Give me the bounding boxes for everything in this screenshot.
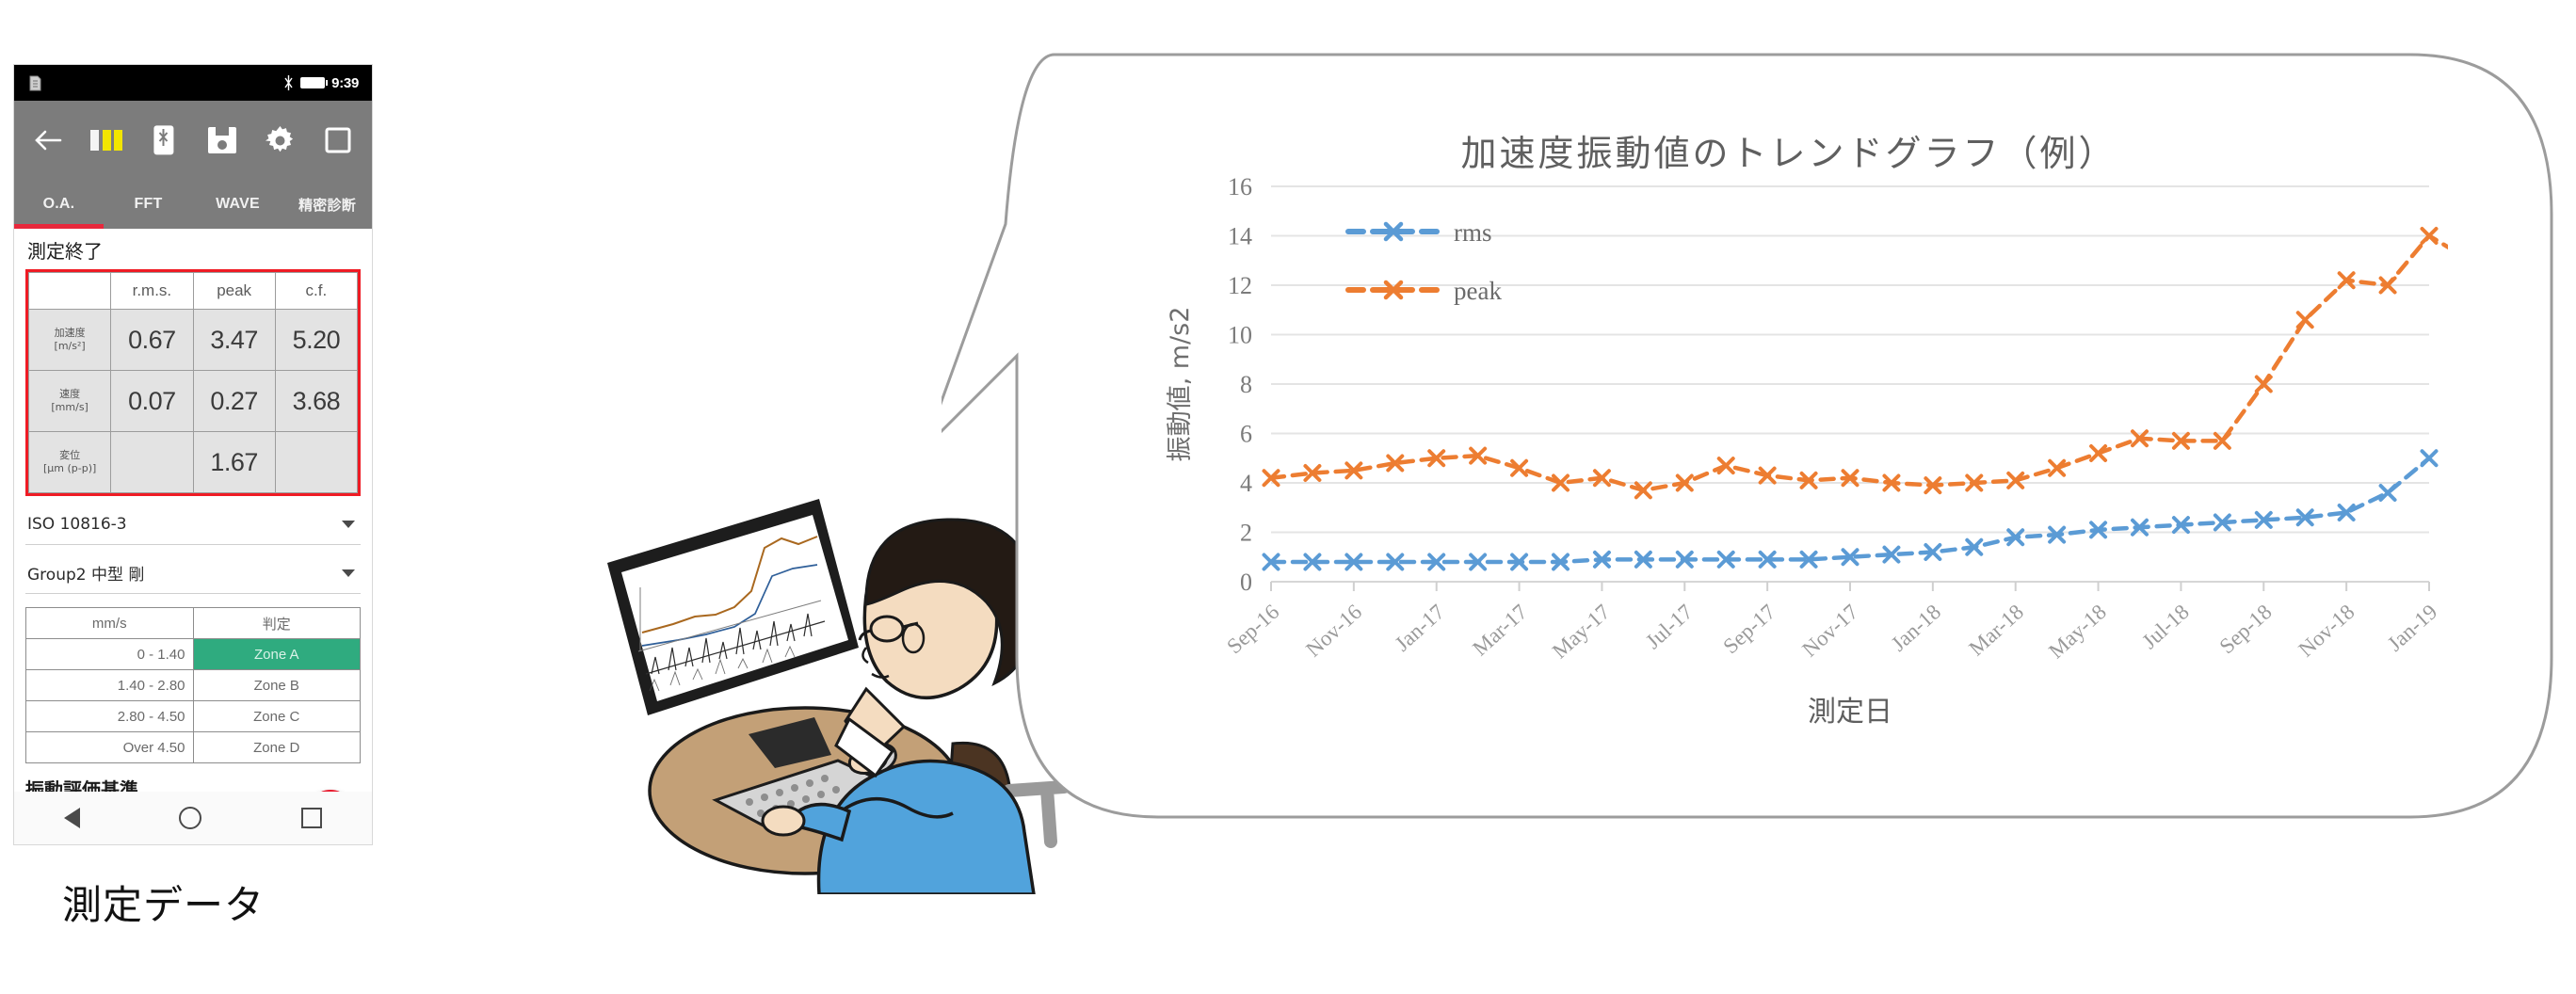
series-line-rms	[1271, 458, 2429, 562]
legend-label-peak: peak	[1454, 277, 1502, 305]
y-tick-label: 8	[1240, 371, 1252, 398]
x-tick-label: May-17	[1548, 600, 1615, 663]
tab-active-indicator	[14, 224, 104, 229]
cell-vel-peak: 0.27	[193, 371, 275, 432]
row-label-velocity: 速度[mm/s]	[29, 371, 111, 432]
table-header-row: mm/s 判定	[26, 608, 361, 639]
nav-home-circle-icon[interactable]	[179, 807, 201, 829]
table-row: 0 - 1.40 Zone A	[26, 639, 361, 670]
zone-label: Zone C	[193, 701, 361, 732]
zone-criteria-table: mm/s 判定 0 - 1.40 Zone A 1.40 - 2.80 Zone…	[25, 607, 361, 763]
measurement-value-table: r.m.s. peak c.f. 加速度[m/s²] 0.67 3.47 5.2…	[28, 272, 358, 493]
x-tick-label: Sep-17	[1718, 600, 1779, 658]
android-status-bar: 9:39	[14, 65, 372, 101]
row-label-displacement: 変位[µm (p-p)]	[29, 432, 111, 493]
col-blank	[29, 273, 111, 310]
zone-label: Zone D	[193, 732, 361, 763]
nav-recents-square-icon[interactable]	[301, 808, 322, 828]
gear-icon[interactable]	[263, 123, 297, 157]
col-judgement: 判定	[193, 608, 361, 639]
standard-select[interactable]: ISO 10816-3	[25, 504, 361, 545]
x-tick-label: Jan-17	[1391, 600, 1449, 656]
x-tick-label: Jan-18	[1887, 600, 1945, 656]
tab-wave[interactable]: WAVE	[193, 180, 282, 229]
phone-screenshot: 9:39 O.A. FFT WAVE 精密診断 測定終了	[13, 64, 373, 845]
col-rms: r.m.s.	[111, 273, 193, 310]
standard-select-value: ISO 10816-3	[27, 515, 127, 534]
trend-chart: 加速度振動値のトレンドグラフ（例） 0246810121416振動値, m/s2…	[1130, 83, 2448, 779]
tab-fft[interactable]: FFT	[104, 180, 193, 229]
cell-accel-rms: 0.67	[111, 310, 193, 371]
sim-card-icon	[27, 73, 42, 92]
tab-precision-diagnosis[interactable]: 精密診断	[282, 180, 372, 229]
col-mms: mm/s	[26, 608, 194, 639]
callout-bubble: 加速度振動値のトレンドグラフ（例） 0246810121416振動値, m/s2…	[942, 45, 2561, 836]
app-toolbar	[14, 101, 372, 180]
bluetooth-device-icon[interactable]	[147, 123, 181, 157]
group-select[interactable]: Group2 中型 剛	[25, 553, 361, 594]
arrow-left-icon[interactable]	[31, 123, 65, 157]
battery-full-icon	[300, 77, 325, 88]
legend-label-rms: rms	[1454, 218, 1492, 247]
page-caption: 測定データ	[62, 874, 265, 931]
x-tick-label: Mar-18	[1964, 600, 2028, 660]
y-axis-title: 振動値, m/s2	[1166, 307, 1195, 462]
group-select-value: Group2 中型 剛	[27, 561, 144, 585]
table-row: 変位[µm (p-p)] 1.67	[29, 432, 358, 493]
y-tick-label: 2	[1240, 520, 1252, 547]
zone-label: Zone B	[193, 670, 361, 701]
series-marker-peak	[2298, 313, 2312, 327]
series-marker-rms	[2381, 486, 2395, 500]
zone-range: 0 - 1.40	[26, 639, 194, 670]
cell-disp-peak: 1.67	[193, 432, 275, 493]
y-tick-label: 14	[1228, 223, 1252, 250]
y-tick-label: 12	[1228, 272, 1252, 299]
x-tick-label: Nov-18	[2294, 600, 2359, 662]
x-tick-label: Jul-17	[1641, 600, 1697, 653]
x-tick-label: Nov-17	[1797, 600, 1862, 662]
battery-level-icon[interactable]	[89, 130, 123, 151]
x-tick-label: Jul-18	[2137, 600, 2193, 653]
x-tick-label: Mar-17	[1468, 600, 1532, 660]
measurement-status: 測定終了	[27, 236, 361, 264]
row-label-acceleration: 加速度[m/s²]	[29, 310, 111, 371]
x-tick-label: Sep-16	[1222, 600, 1283, 658]
col-cf: c.f.	[275, 273, 357, 310]
bluetooth-icon	[282, 74, 294, 91]
save-icon[interactable]	[205, 123, 239, 157]
x-tick-label: Jan-19	[2383, 600, 2441, 656]
cell-accel-peak: 3.47	[193, 310, 275, 371]
x-tick-label: Nov-16	[1301, 600, 1366, 662]
zone-range: 2.80 - 4.50	[26, 701, 194, 732]
table-row: Over 4.50 Zone D	[26, 732, 361, 763]
android-navigation-bar	[14, 792, 372, 844]
cell-vel-rms: 0.07	[111, 371, 193, 432]
chevron-down-icon	[342, 521, 355, 528]
table-row: 1.40 - 2.80 Zone B	[26, 670, 361, 701]
zone-label: Zone A	[193, 639, 361, 670]
col-peak: peak	[193, 273, 275, 310]
value-table-highlight-box: r.m.s. peak c.f. 加速度[m/s²] 0.67 3.47 5.2…	[25, 269, 361, 496]
series-marker-rms	[2423, 451, 2437, 465]
cell-vel-cf: 3.68	[275, 371, 357, 432]
cell-disp-cf	[275, 432, 357, 493]
table-header-row: r.m.s. peak c.f.	[29, 273, 358, 310]
x-tick-label: Sep-18	[2214, 600, 2276, 658]
tab-oa[interactable]: O.A.	[14, 180, 104, 229]
tab-bar: O.A. FFT WAVE 精密診断	[14, 180, 372, 229]
zone-range: 1.40 - 2.80	[26, 670, 194, 701]
y-tick-label: 10	[1228, 322, 1252, 349]
status-bar-clock: 9:39	[331, 75, 359, 91]
y-tick-label: 16	[1228, 173, 1252, 200]
table-row: 速度[mm/s] 0.07 0.27 3.68	[29, 371, 358, 432]
nav-back-triangle-icon[interactable]	[64, 808, 80, 828]
series-line-peak	[1271, 236, 2448, 490]
cell-accel-cf: 5.20	[275, 310, 357, 371]
chevron-down-icon	[342, 569, 355, 577]
y-tick-label: 0	[1240, 569, 1252, 596]
y-tick-label: 6	[1240, 421, 1252, 448]
table-row: 加速度[m/s²] 0.67 3.47 5.20	[29, 310, 358, 371]
table-row: 2.80 - 4.50 Zone C	[26, 701, 361, 732]
chart-plot-area: 0246810121416振動値, m/s2Sep-16Nov-16Jan-17…	[1130, 168, 2448, 751]
x-tick-label: May-18	[2044, 600, 2111, 663]
cell-disp-rms	[111, 432, 193, 493]
y-tick-label: 4	[1240, 470, 1252, 497]
zone-range: Over 4.50	[26, 732, 194, 763]
x-axis-title: 測定日	[1808, 696, 1892, 729]
stop-square-icon[interactable]	[321, 123, 355, 157]
